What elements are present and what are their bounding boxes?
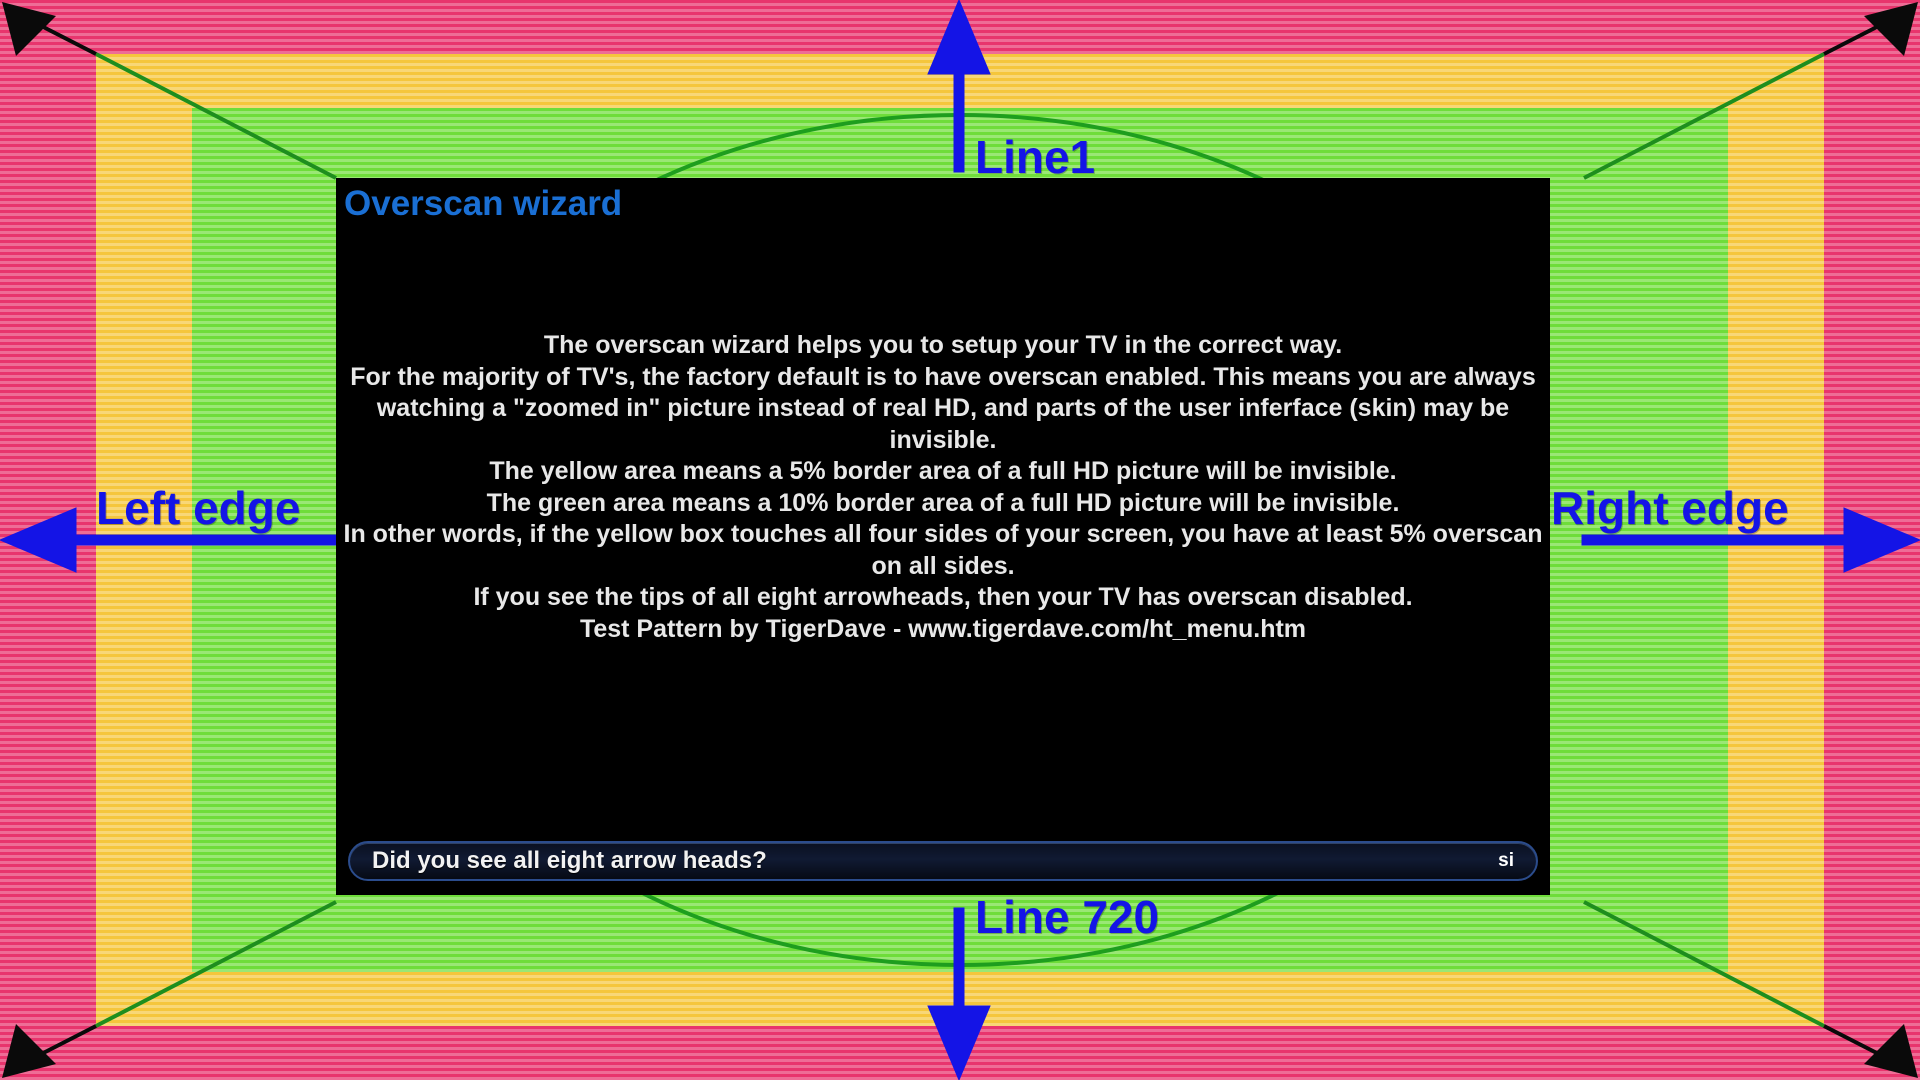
info-line: The yellow area means a 5% border area o… bbox=[340, 456, 1546, 488]
answer-setting-row[interactable]: Did you see all eight arrow heads? si bbox=[348, 841, 1538, 881]
info-line: The overscan wizard helps you to setup y… bbox=[340, 330, 1546, 362]
page-title: Overscan wizard bbox=[344, 184, 622, 224]
answer-value[interactable]: si bbox=[1498, 850, 1514, 872]
marker-label-right: Right edge bbox=[1551, 481, 1789, 535]
info-text-block: The overscan wizard helps you to setup y… bbox=[336, 330, 1550, 645]
info-line: The green area means a 10% border area o… bbox=[340, 488, 1546, 520]
overscan-wizard-dialog: Overscan wizard The overscan wizard help… bbox=[336, 178, 1550, 895]
answer-question-label: Did you see all eight arrow heads? bbox=[372, 847, 767, 875]
info-line: In other words, if the yellow box touche… bbox=[340, 519, 1546, 582]
overscan-test-pattern: Line1 Line 720 Left edge Right edge Over… bbox=[0, 0, 1920, 1080]
marker-label-bottom: Line 720 bbox=[975, 890, 1159, 944]
info-line: Test Pattern by TigerDave - www.tigerdav… bbox=[340, 614, 1546, 646]
marker-label-left: Left edge bbox=[96, 481, 300, 535]
info-line: For the majority of TV's, the factory de… bbox=[340, 362, 1546, 457]
info-line: If you see the tips of all eight arrowhe… bbox=[340, 582, 1546, 614]
marker-label-top: Line1 bbox=[975, 130, 1095, 184]
